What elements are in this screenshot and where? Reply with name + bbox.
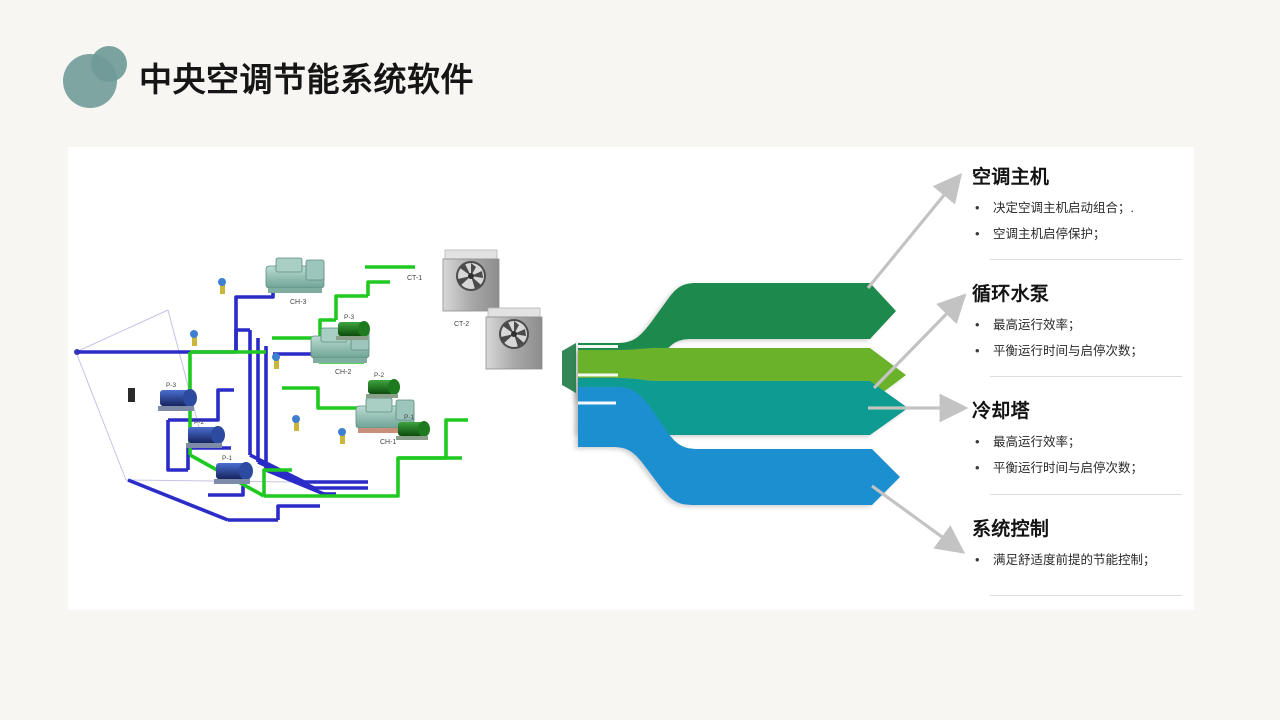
bullet-icon: •	[975, 552, 980, 567]
section-divider	[990, 494, 1182, 495]
section-divider	[990, 376, 1182, 377]
bullet-text: 满足舒适度前提的节能控制；	[993, 553, 1156, 567]
connector-arrow-4	[872, 486, 960, 550]
feature-bullets-4: •满足舒适度前提的节能控制；	[972, 553, 1198, 568]
svg-text:P-2: P-2	[194, 419, 205, 426]
list-item: •平衡运行时间与启停次数；	[972, 461, 1198, 476]
svg-text:CH-1: CH-1	[380, 439, 396, 446]
bullet-text: 平衡运行时间与启停次数；	[993, 461, 1143, 475]
feature-heading-3: 冷却塔	[972, 400, 1198, 424]
connector-arrow-2	[874, 298, 962, 388]
logo	[63, 46, 129, 112]
svg-text:CT-1: CT-1	[407, 275, 422, 282]
feature-heading-4: 系统控制	[972, 518, 1198, 542]
bullet-text: 最高运行效率；	[993, 435, 1081, 449]
svg-text:CH-3: CH-3	[290, 299, 306, 306]
svg-text:P-3: P-3	[344, 314, 355, 321]
slide-header: 中央空调节能系统软件	[0, 0, 1280, 140]
list-item: •空调主机启停保护；	[972, 227, 1198, 242]
bullet-icon: •	[975, 317, 980, 332]
svg-text:CH-2: CH-2	[335, 369, 351, 376]
feature-bullets-1: •决定空调主机启动组合；. •空调主机启停保护；	[972, 201, 1198, 242]
bullet-icon: •	[975, 460, 980, 475]
section-divider	[990, 595, 1182, 596]
ribbon-stem-cap	[562, 343, 576, 393]
bullet-text: 最高运行效率；	[993, 318, 1081, 332]
svg-text:P-1: P-1	[222, 455, 233, 462]
section-divider	[990, 259, 1182, 260]
list-item: •最高运行效率；	[972, 318, 1198, 333]
bullet-text: 决定空调主机启动组合；.	[993, 201, 1134, 215]
list-item: •满足舒适度前提的节能控制；	[972, 553, 1198, 568]
feature-list: 空调主机 •决定空调主机启动组合；. •空调主机启停保护； 循环水泵 •最高运行…	[972, 160, 1198, 600]
connector-arrow-1	[868, 178, 958, 288]
bullet-icon: •	[975, 226, 980, 241]
feature-bullets-3: •最高运行效率； •平衡运行时间与启停次数；	[972, 435, 1198, 476]
svg-text:CT-2: CT-2	[454, 321, 469, 328]
svg-text:P-3: P-3	[166, 382, 177, 389]
bullet-icon: •	[975, 434, 980, 449]
bullet-icon: •	[975, 200, 980, 215]
list-item: •最高运行效率；	[972, 435, 1198, 450]
page-title: 中央空调节能系统软件	[139, 60, 474, 100]
feature-heading-1: 空调主机	[972, 166, 1198, 190]
feature-block-2: 循环水泵 •最高运行效率； •平衡运行时间与启停次数；	[972, 283, 1198, 359]
feature-block-4: 系统控制 •满足舒适度前提的节能控制；	[972, 518, 1198, 568]
svg-text:P-1: P-1	[404, 414, 415, 421]
bullet-icon: •	[975, 343, 980, 358]
feature-bullets-2: •最高运行效率； •平衡运行时间与启停次数；	[972, 318, 1198, 359]
svg-text:P-2: P-2	[374, 372, 385, 379]
bullet-text: 平衡运行时间与启停次数；	[993, 344, 1143, 358]
list-item: •决定空调主机启动组合；.	[972, 201, 1198, 216]
feature-heading-2: 循环水泵	[972, 283, 1198, 307]
slide-root: 中央空调节能系统软件	[0, 0, 1280, 720]
logo-circle-small-icon	[91, 46, 127, 82]
list-item: •平衡运行时间与启停次数；	[972, 344, 1198, 359]
hvac-schematic-image: CH-3 CH-2 CH-1	[68, 230, 568, 530]
bullet-text: 空调主机启停保护；	[993, 227, 1106, 241]
feature-block-1: 空调主机 •决定空调主机启动组合；. •空调主机启停保护；	[972, 166, 1198, 242]
feature-block-3: 冷却塔 •最高运行效率； •平衡运行时间与启停次数；	[972, 400, 1198, 476]
